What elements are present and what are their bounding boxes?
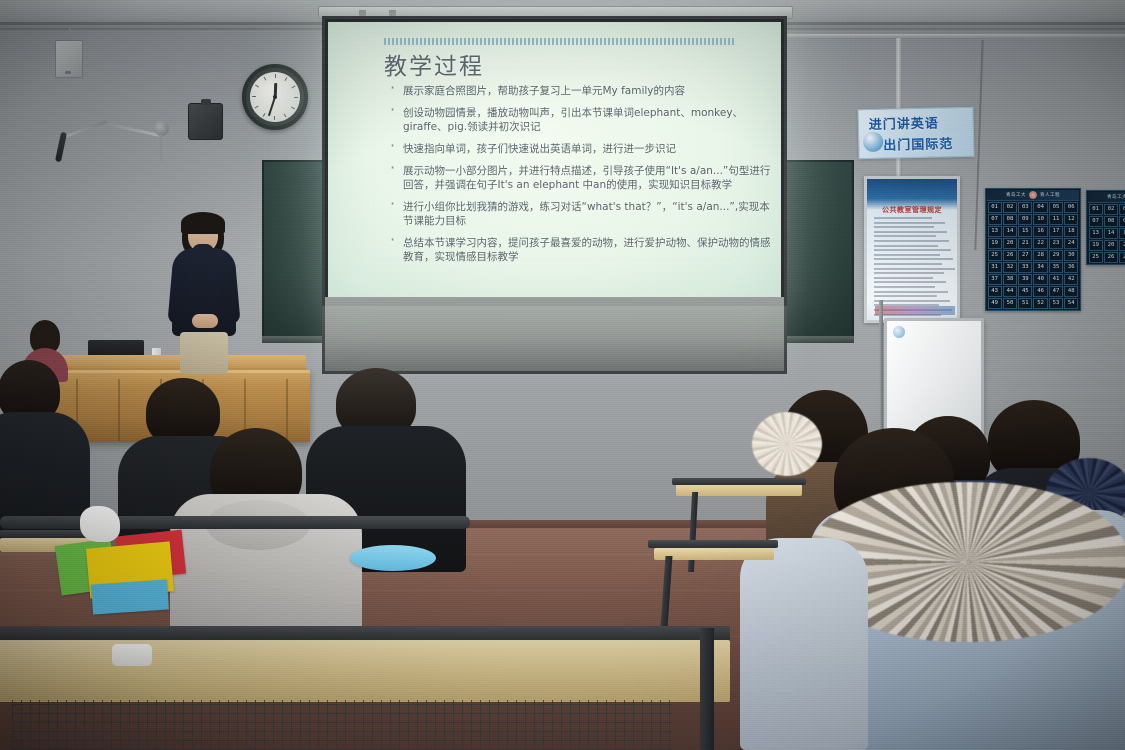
number-chart-cell: 19 — [1089, 240, 1103, 251]
number-chart-cell: 21 — [1119, 240, 1125, 251]
clock-tick — [291, 107, 295, 110]
number-chart-cell: 27 — [1119, 252, 1125, 263]
poster-text-line — [874, 300, 950, 302]
clock-face — [250, 72, 300, 122]
poster-text-line — [874, 217, 932, 219]
number-chart-row: 252627282930 — [1088, 251, 1125, 263]
number-chart-cell: 24 — [1064, 238, 1078, 249]
desk-rail-right-rear — [672, 478, 806, 485]
number-chart-cell: 03 — [1018, 202, 1032, 213]
number-chart-row: 070809101112 — [1088, 215, 1125, 227]
number-chart-cell: 33 — [1018, 262, 1032, 273]
number-chart-cell: 27 — [1018, 250, 1032, 261]
number-chart-cell: 22 — [1033, 238, 1047, 249]
number-chart-cell: 17 — [1049, 226, 1063, 237]
slide-bullet: 创设动物园情景，播放动物叫声，引出本节课单词elephant、monkey、gi… — [388, 106, 772, 134]
number-chart-cell: 20 — [1003, 238, 1017, 249]
number-chart-header: 青岛工大育人工程 — [987, 190, 1079, 201]
clock-tick — [255, 85, 259, 88]
projection-screen: 教学过程 展示家庭合照图片，帮助孩子复习上一单元My family的内容创设动物… — [322, 16, 787, 374]
number-chart-cell: 11 — [1049, 214, 1063, 225]
number-chart-row: 434445464748 — [987, 285, 1079, 297]
slide-title: 教学过程 — [384, 47, 484, 81]
number-chart-cell: 28 — [1033, 250, 1047, 261]
poster-text-line — [874, 245, 938, 247]
number-chart-cell: 46 — [1033, 286, 1047, 297]
poster-title: 公共教室管理规定 — [867, 205, 957, 215]
number-chart-row: 192021222324 — [1088, 239, 1125, 251]
clock-tick — [275, 74, 276, 78]
number-chart-cell: 09 — [1119, 216, 1125, 227]
number-chart-row: 010203040506 — [1088, 203, 1125, 215]
poster-text-line — [874, 286, 935, 288]
number-chart-cell: 02 — [1104, 204, 1118, 215]
swing-arm-microphone — [60, 110, 160, 170]
poster-text-line — [874, 240, 949, 242]
number-chart-cell: 01 — [1089, 204, 1103, 215]
number-chart-cell: 38 — [1003, 274, 1017, 285]
number-chart-cell: 49 — [988, 298, 1002, 309]
number-chart-cell: 53 — [1049, 298, 1063, 309]
presentation-slide: 教学过程 展示家庭合照图片，帮助孩子复习上一单元My family的内容创设动物… — [328, 22, 781, 306]
number-chart-cell: 07 — [988, 214, 1002, 225]
tissue-foreground — [112, 644, 152, 666]
number-chart-row: 131415161718 — [1088, 227, 1125, 239]
poster-text-line — [874, 291, 948, 293]
paper-blue-oval — [350, 545, 436, 571]
number-chart-cell: 08 — [1003, 214, 1017, 225]
number-chart-cell: 26 — [1003, 250, 1017, 261]
number-chart-cell: 15 — [1018, 226, 1032, 237]
number-chart-cell: 05 — [1049, 202, 1063, 213]
poster-text-line — [874, 268, 955, 270]
number-chart-cell: 41 — [1049, 274, 1063, 285]
number-chart-cell: 04 — [1033, 202, 1047, 213]
number-chart-cell: 32 — [1003, 262, 1017, 273]
slide-bullet: 进行小组你比划我猜的游戏，练习对话“what's that？”，“it's a/… — [388, 200, 772, 228]
poster-text-line — [874, 281, 946, 283]
poster-text-line — [874, 277, 933, 279]
chart-seal-icon — [1029, 191, 1037, 199]
fur-hood-left — [752, 412, 822, 476]
wall-mounted-device — [188, 103, 223, 140]
number-chart-cell: 50 — [1003, 298, 1017, 309]
poster-text-line — [874, 226, 934, 228]
chart-header-left: 青岛工大 — [1107, 194, 1125, 200]
poster-text-line — [874, 235, 936, 237]
number-chart-row: 252627282930 — [987, 249, 1079, 261]
desk-rail-right-mid — [648, 540, 778, 548]
number-chart-cell: 26 — [1104, 252, 1118, 263]
number-chart-header: 青岛工大育人工程 — [1088, 192, 1125, 203]
poster-text-line — [874, 249, 951, 251]
number-chart-row: 495051525354 — [987, 297, 1079, 309]
clock-center-pin — [273, 95, 277, 99]
number-chart-cell: 25 — [1089, 252, 1103, 263]
poster-text-line — [874, 272, 944, 274]
number-chart-cell: 42 — [1064, 274, 1078, 285]
paper-blue — [91, 579, 169, 614]
number-chart-cell: 36 — [1064, 262, 1078, 273]
clock-tick — [264, 77, 267, 81]
number-chart-row: 313233343536 — [987, 261, 1079, 273]
number-chart-cell: 45 — [1018, 286, 1032, 297]
wall-clock — [242, 64, 308, 130]
number-chart-cell: 31 — [988, 262, 1002, 273]
chart-header-right: 育人工程 — [1040, 192, 1060, 198]
number-chart-cell: 37 — [988, 274, 1002, 285]
poster-text-line — [874, 263, 942, 265]
number-chart-cell: 12 — [1064, 214, 1078, 225]
poster-text-line — [874, 258, 953, 260]
poster-footer-band — [875, 306, 955, 315]
clock-tick — [263, 113, 266, 117]
number-chart-cell: 34 — [1033, 262, 1047, 273]
number-chart-primary: 青岛工大育人工程01020304050607080910111213141516… — [985, 188, 1081, 311]
slide-bullet: 展示家庭合照图片，帮助孩子复习上一单元My family的内容 — [388, 84, 772, 98]
slide-bullet: 快速指向单词，孩子们快速说出英语单词，进行进一步识记 — [388, 142, 772, 156]
desk-under-basket — [12, 700, 672, 750]
poster-text-line — [874, 295, 937, 297]
number-chart-cell: 14 — [1104, 228, 1118, 239]
slide-bullet: 总结本节课学习内容，提问孩子最喜爱的动物，进行爱护动物、保护动物的情感教育，实现… — [388, 236, 772, 264]
chart-header-left: 青岛工大 — [1006, 192, 1026, 198]
clock-tick — [285, 77, 288, 81]
number-chart-cell: 30 — [1064, 250, 1078, 261]
number-chart-cell: 25 — [988, 250, 1002, 261]
number-chart-cell: 14 — [1003, 226, 1017, 237]
chair-back-rail — [0, 516, 470, 529]
number-chart-row: 010203040506 — [987, 201, 1079, 213]
number-chart-cell: 43 — [988, 286, 1002, 297]
number-chart-cell: 16 — [1033, 226, 1047, 237]
banner-orb-icon — [863, 132, 883, 152]
number-chart-cell: 40 — [1033, 274, 1047, 285]
foreground-desk-leg — [700, 628, 714, 750]
number-chart-cell: 51 — [1018, 298, 1032, 309]
poster-text-line — [874, 222, 945, 224]
english-slogan-banner: 进门讲英语 出门国际范 — [857, 107, 974, 159]
number-chart-cell: 03 — [1119, 204, 1125, 215]
banner-line-2: 出门国际范 — [883, 133, 953, 153]
number-chart-rows: 0102030405060708091011121314151617181920… — [987, 201, 1079, 309]
number-chart-cell: 48 — [1064, 286, 1078, 297]
observer-light-parka-left — [740, 498, 860, 750]
tissue-left — [80, 506, 120, 542]
slide-bullet-list: 展示家庭合照图片，帮助孩子复习上一单元My family的内容创设动物园情景，播… — [388, 84, 772, 272]
number-chart-cell: 35 — [1049, 262, 1063, 273]
clock-minute-hand — [268, 97, 276, 117]
number-chart-cell: 07 — [1089, 216, 1103, 227]
number-chart-cell: 19 — [988, 238, 1002, 249]
number-chart-row: 192021222324 — [987, 237, 1079, 249]
number-chart-cell: 20 — [1104, 240, 1118, 251]
number-chart-cell: 02 — [1003, 202, 1017, 213]
number-chart-rows: 0102030405060708091011121314151617181920… — [1088, 203, 1125, 263]
clock-tick — [284, 113, 287, 117]
number-chart-cell: 18 — [1064, 226, 1078, 237]
number-chart-cell: 39 — [1018, 274, 1032, 285]
clock-tick — [294, 97, 298, 98]
teacher-presenting — [172, 218, 236, 378]
number-chart-cell: 06 — [1064, 202, 1078, 213]
number-chart-cell: 10 — [1033, 214, 1047, 225]
clock-tick — [255, 106, 259, 109]
foreground-desk-top — [0, 640, 730, 702]
number-chart-cell: 13 — [1089, 228, 1103, 239]
number-chart-cell: 08 — [1104, 216, 1118, 227]
number-chart-cell: 09 — [1018, 214, 1032, 225]
clock-tick — [291, 86, 295, 89]
poster-text-line — [874, 254, 940, 256]
number-chart-row: 373839404142 — [987, 273, 1079, 285]
poster-text-line — [874, 231, 947, 233]
number-chart-cell: 21 — [1018, 238, 1032, 249]
banner-line-1: 进门讲英语 — [869, 113, 939, 133]
screen-unlit-area — [325, 297, 784, 371]
number-chart-cell: 15 — [1119, 228, 1125, 239]
wall-speaker — [55, 40, 83, 78]
slide-deco-bar — [384, 38, 736, 45]
number-chart-cell: 52 — [1033, 298, 1047, 309]
clock-tick — [274, 116, 275, 120]
number-chart-cell: 01 — [988, 202, 1002, 213]
student-grey-hoodie — [170, 428, 360, 658]
number-chart-row: 070809101112 — [987, 213, 1079, 225]
number-chart-row: 131415161718 — [987, 225, 1079, 237]
number-chart-cell: 29 — [1049, 250, 1063, 261]
number-chart-cell: 13 — [988, 226, 1002, 237]
number-chart-cell: 54 — [1064, 298, 1078, 309]
number-chart-secondary: 青岛工大育人工程01020304050607080910111213141516… — [1086, 190, 1125, 265]
number-chart-cell: 23 — [1049, 238, 1063, 249]
classroom-photo: 进门讲英语 出门国际范 公共教室管理规定 青岛工大育人工程01020304050… — [0, 0, 1125, 750]
number-chart-cell: 47 — [1049, 286, 1063, 297]
clock-tick — [252, 96, 256, 97]
number-chart-cell: 44 — [1003, 286, 1017, 297]
slide-bullet: 展示动物一小部分图片，并进行特点描述，引导孩子使用“It's a/an...”句… — [388, 164, 772, 192]
whiteboard-sticker-icon — [893, 326, 905, 338]
